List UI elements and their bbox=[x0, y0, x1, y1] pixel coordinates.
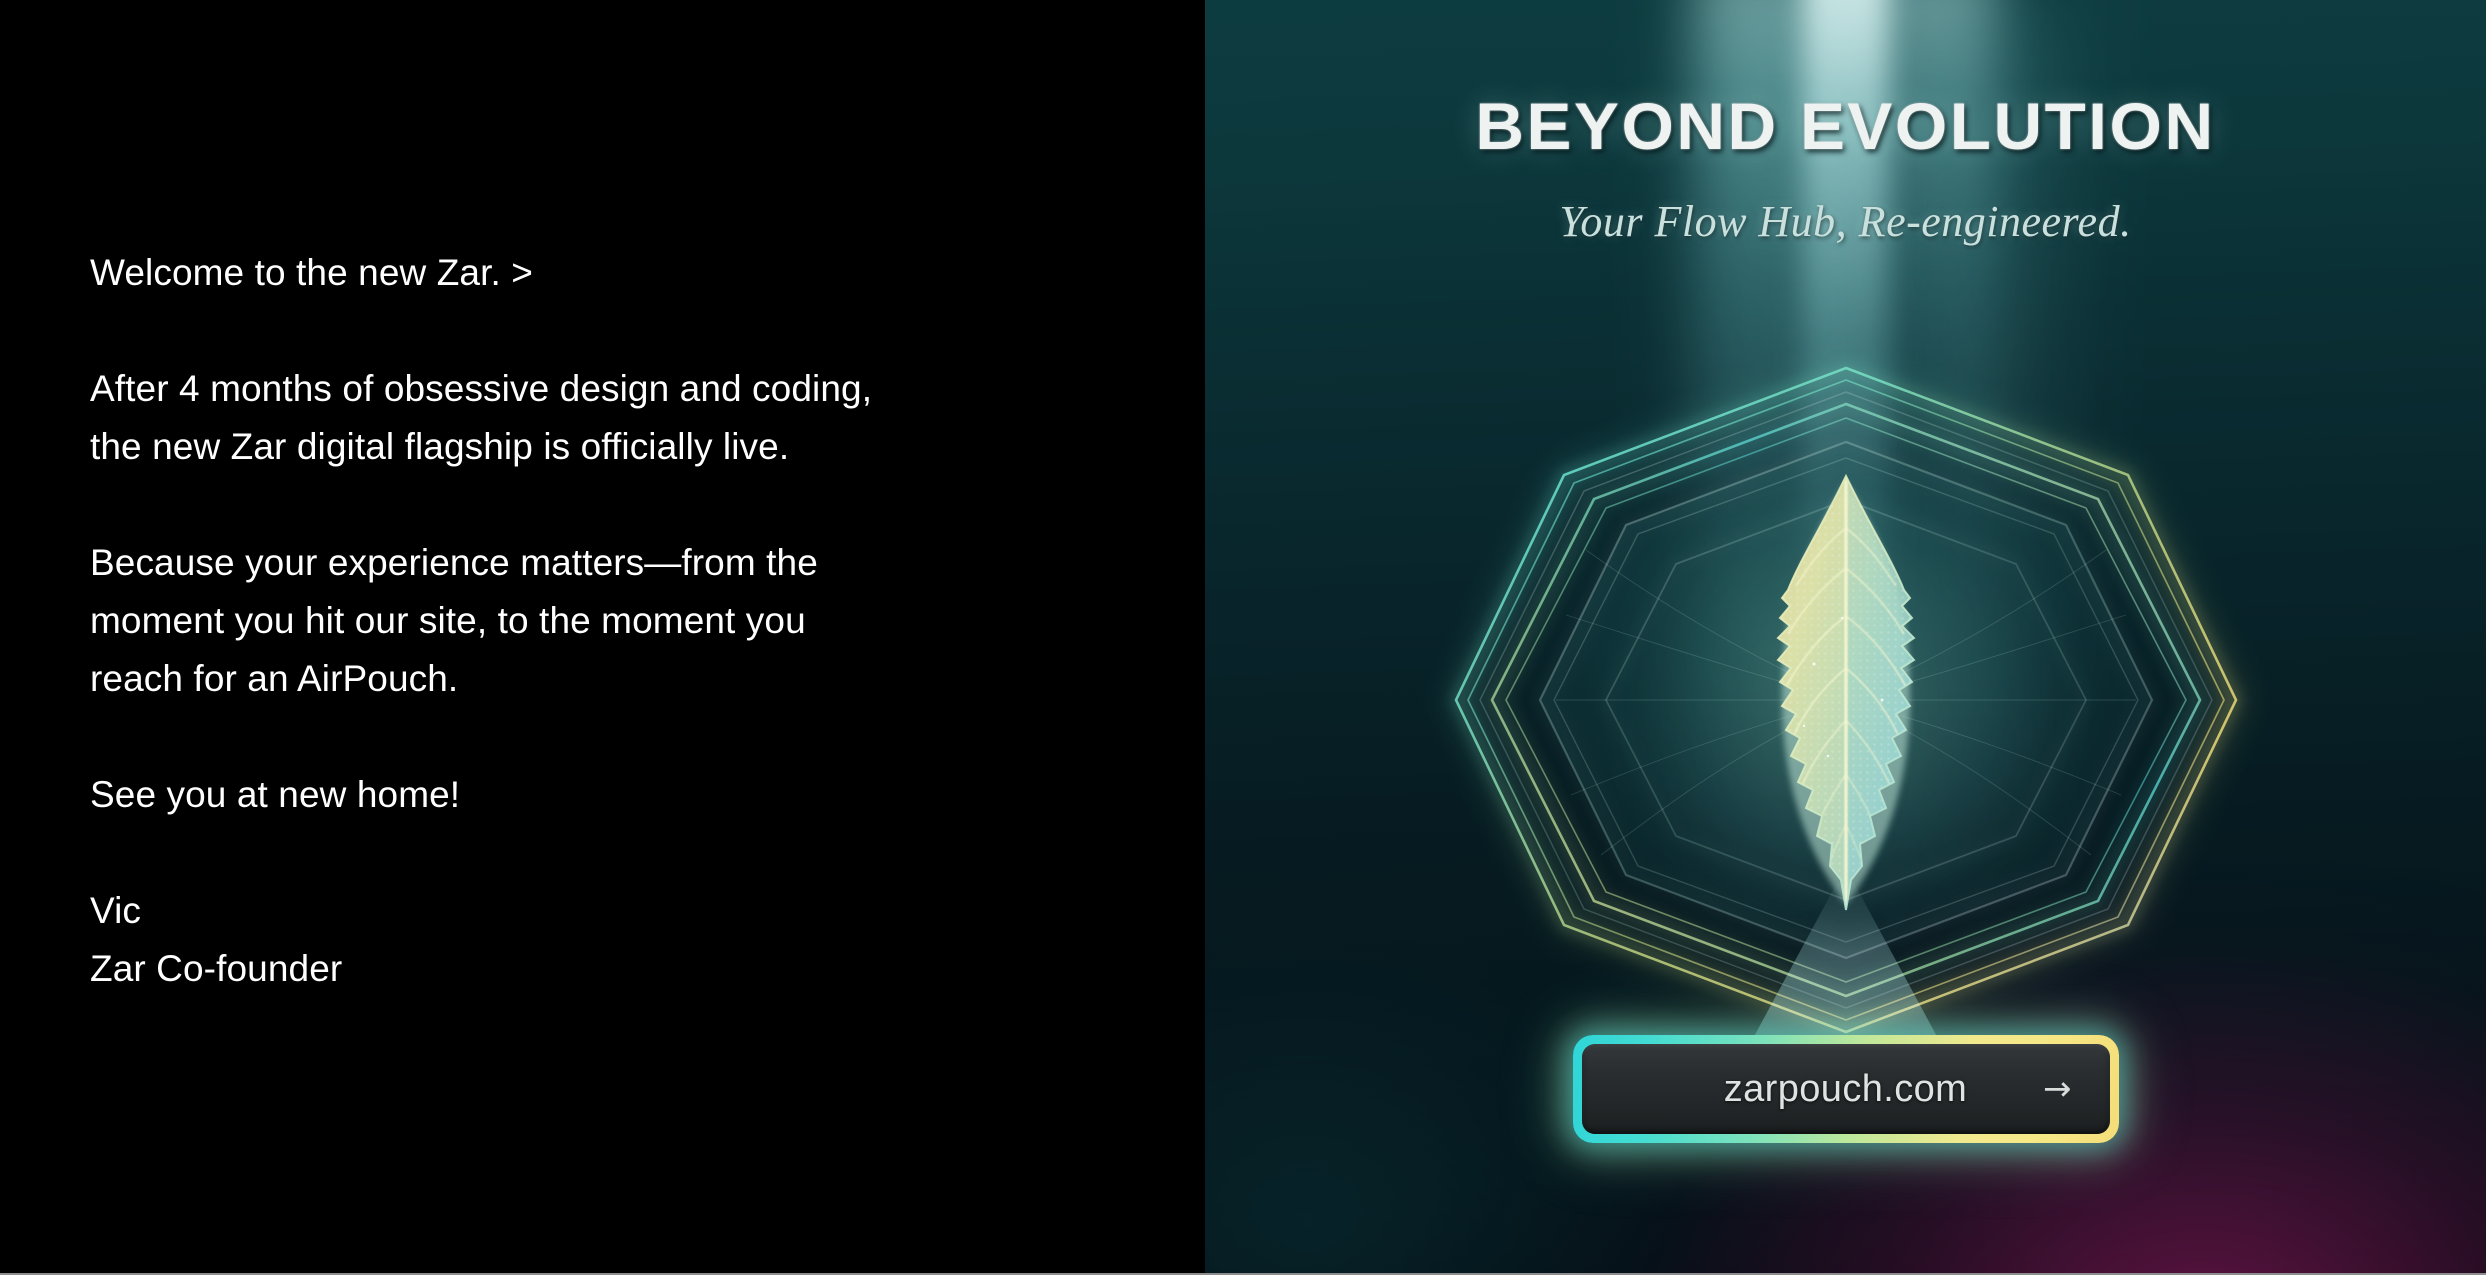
announcement-message: Welcome to the new Zar. > After 4 months… bbox=[90, 244, 1150, 998]
leaf-icon bbox=[1696, 468, 1996, 918]
visit-site-button[interactable]: zarpouch.com → bbox=[1573, 1035, 2119, 1143]
announcement-screen: Welcome to the new Zar. > After 4 months… bbox=[0, 0, 2486, 1275]
message-paragraph-signoff: See you at new home! bbox=[90, 766, 1150, 824]
message-paragraph-experience: Because your experience matters—from the… bbox=[90, 534, 1150, 708]
visit-site-button-inner[interactable]: zarpouch.com → bbox=[1582, 1044, 2110, 1134]
hero-subheadline: Your Flow Hub, Re-engineered. bbox=[1205, 196, 2486, 247]
hero-headline: BEYOND EVOLUTION bbox=[1205, 88, 2486, 164]
message-paragraph-launch: After 4 months of obsessive design and c… bbox=[90, 360, 1150, 476]
message-paragraph-greeting: Welcome to the new Zar. > bbox=[90, 244, 1150, 302]
message-signature: Vic Zar Co-founder bbox=[90, 882, 1150, 998]
arrow-right-icon: → bbox=[2043, 1072, 2072, 1106]
site-url-label: zarpouch.com bbox=[1724, 1068, 1967, 1111]
message-panel: Welcome to the new Zar. > After 4 months… bbox=[0, 0, 1205, 1275]
hero-artwork-panel: BEYOND EVOLUTION Your Flow Hub, Re-engin… bbox=[1205, 0, 2486, 1275]
